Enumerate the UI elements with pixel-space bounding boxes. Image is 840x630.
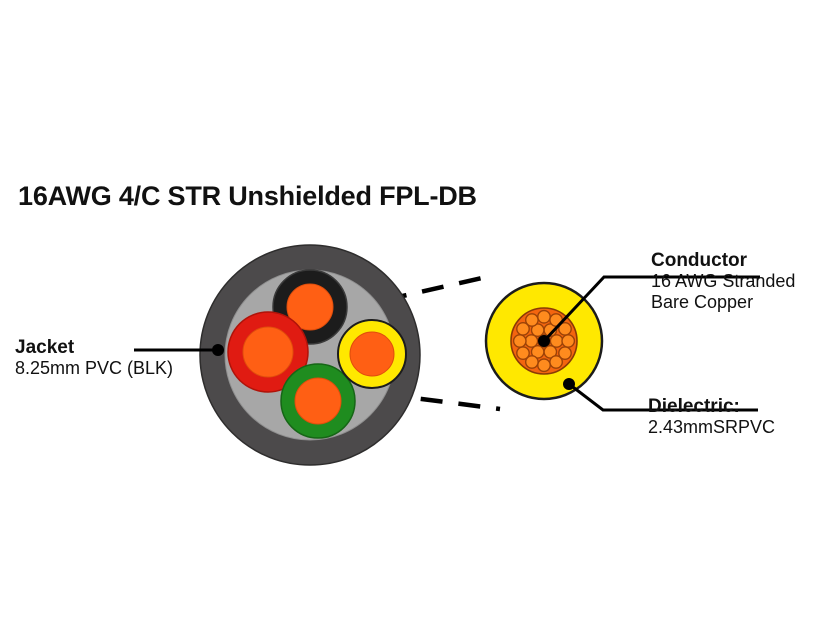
- conductor-label-spec-line1: 16 AWG Stranded: [651, 271, 795, 292]
- dielectric-label: Dielectric: 2.43mmSRPVC: [648, 396, 775, 438]
- conductor-label-title: Conductor: [651, 250, 795, 271]
- conductor-green-core: [295, 378, 341, 424]
- diagram-canvas: [0, 0, 840, 630]
- conductor-label: Conductor 16 AWG Stranded Bare Copper: [651, 250, 795, 313]
- copper-strand: [517, 347, 529, 359]
- cable-cross-section-diagram: 16AWG 4/C STR Unshielded FPL-DB: [0, 0, 840, 630]
- jacket-label-title: Jacket: [15, 337, 173, 358]
- conductor-yellow-core: [350, 332, 394, 376]
- conductor-yellow: [338, 320, 406, 388]
- jacket-label-spec: 8.25mm PVC (BLK): [15, 358, 173, 379]
- dielectric-label-title: Dielectric:: [648, 396, 775, 417]
- copper-strand: [538, 311, 550, 323]
- copper-strand: [538, 359, 550, 371]
- copper-strand: [550, 356, 562, 368]
- copper-strand: [562, 335, 574, 347]
- copper-strand: [526, 314, 538, 326]
- jacket-leader-dot: [212, 344, 224, 356]
- jacket-label: Jacket 8.25mm PVC (BLK): [15, 337, 173, 379]
- dielectric-leader-dot: [563, 378, 575, 390]
- copper-strand: [514, 335, 526, 347]
- conductor-red-core: [243, 327, 293, 377]
- cable-cross-section: [200, 245, 420, 465]
- conductor-leader-dot: [538, 335, 550, 347]
- conductor-green: [281, 364, 355, 438]
- dielectric-label-spec: 2.43mmSRPVC: [648, 417, 775, 438]
- conductor-label-spec-line2: Bare Copper: [651, 292, 795, 313]
